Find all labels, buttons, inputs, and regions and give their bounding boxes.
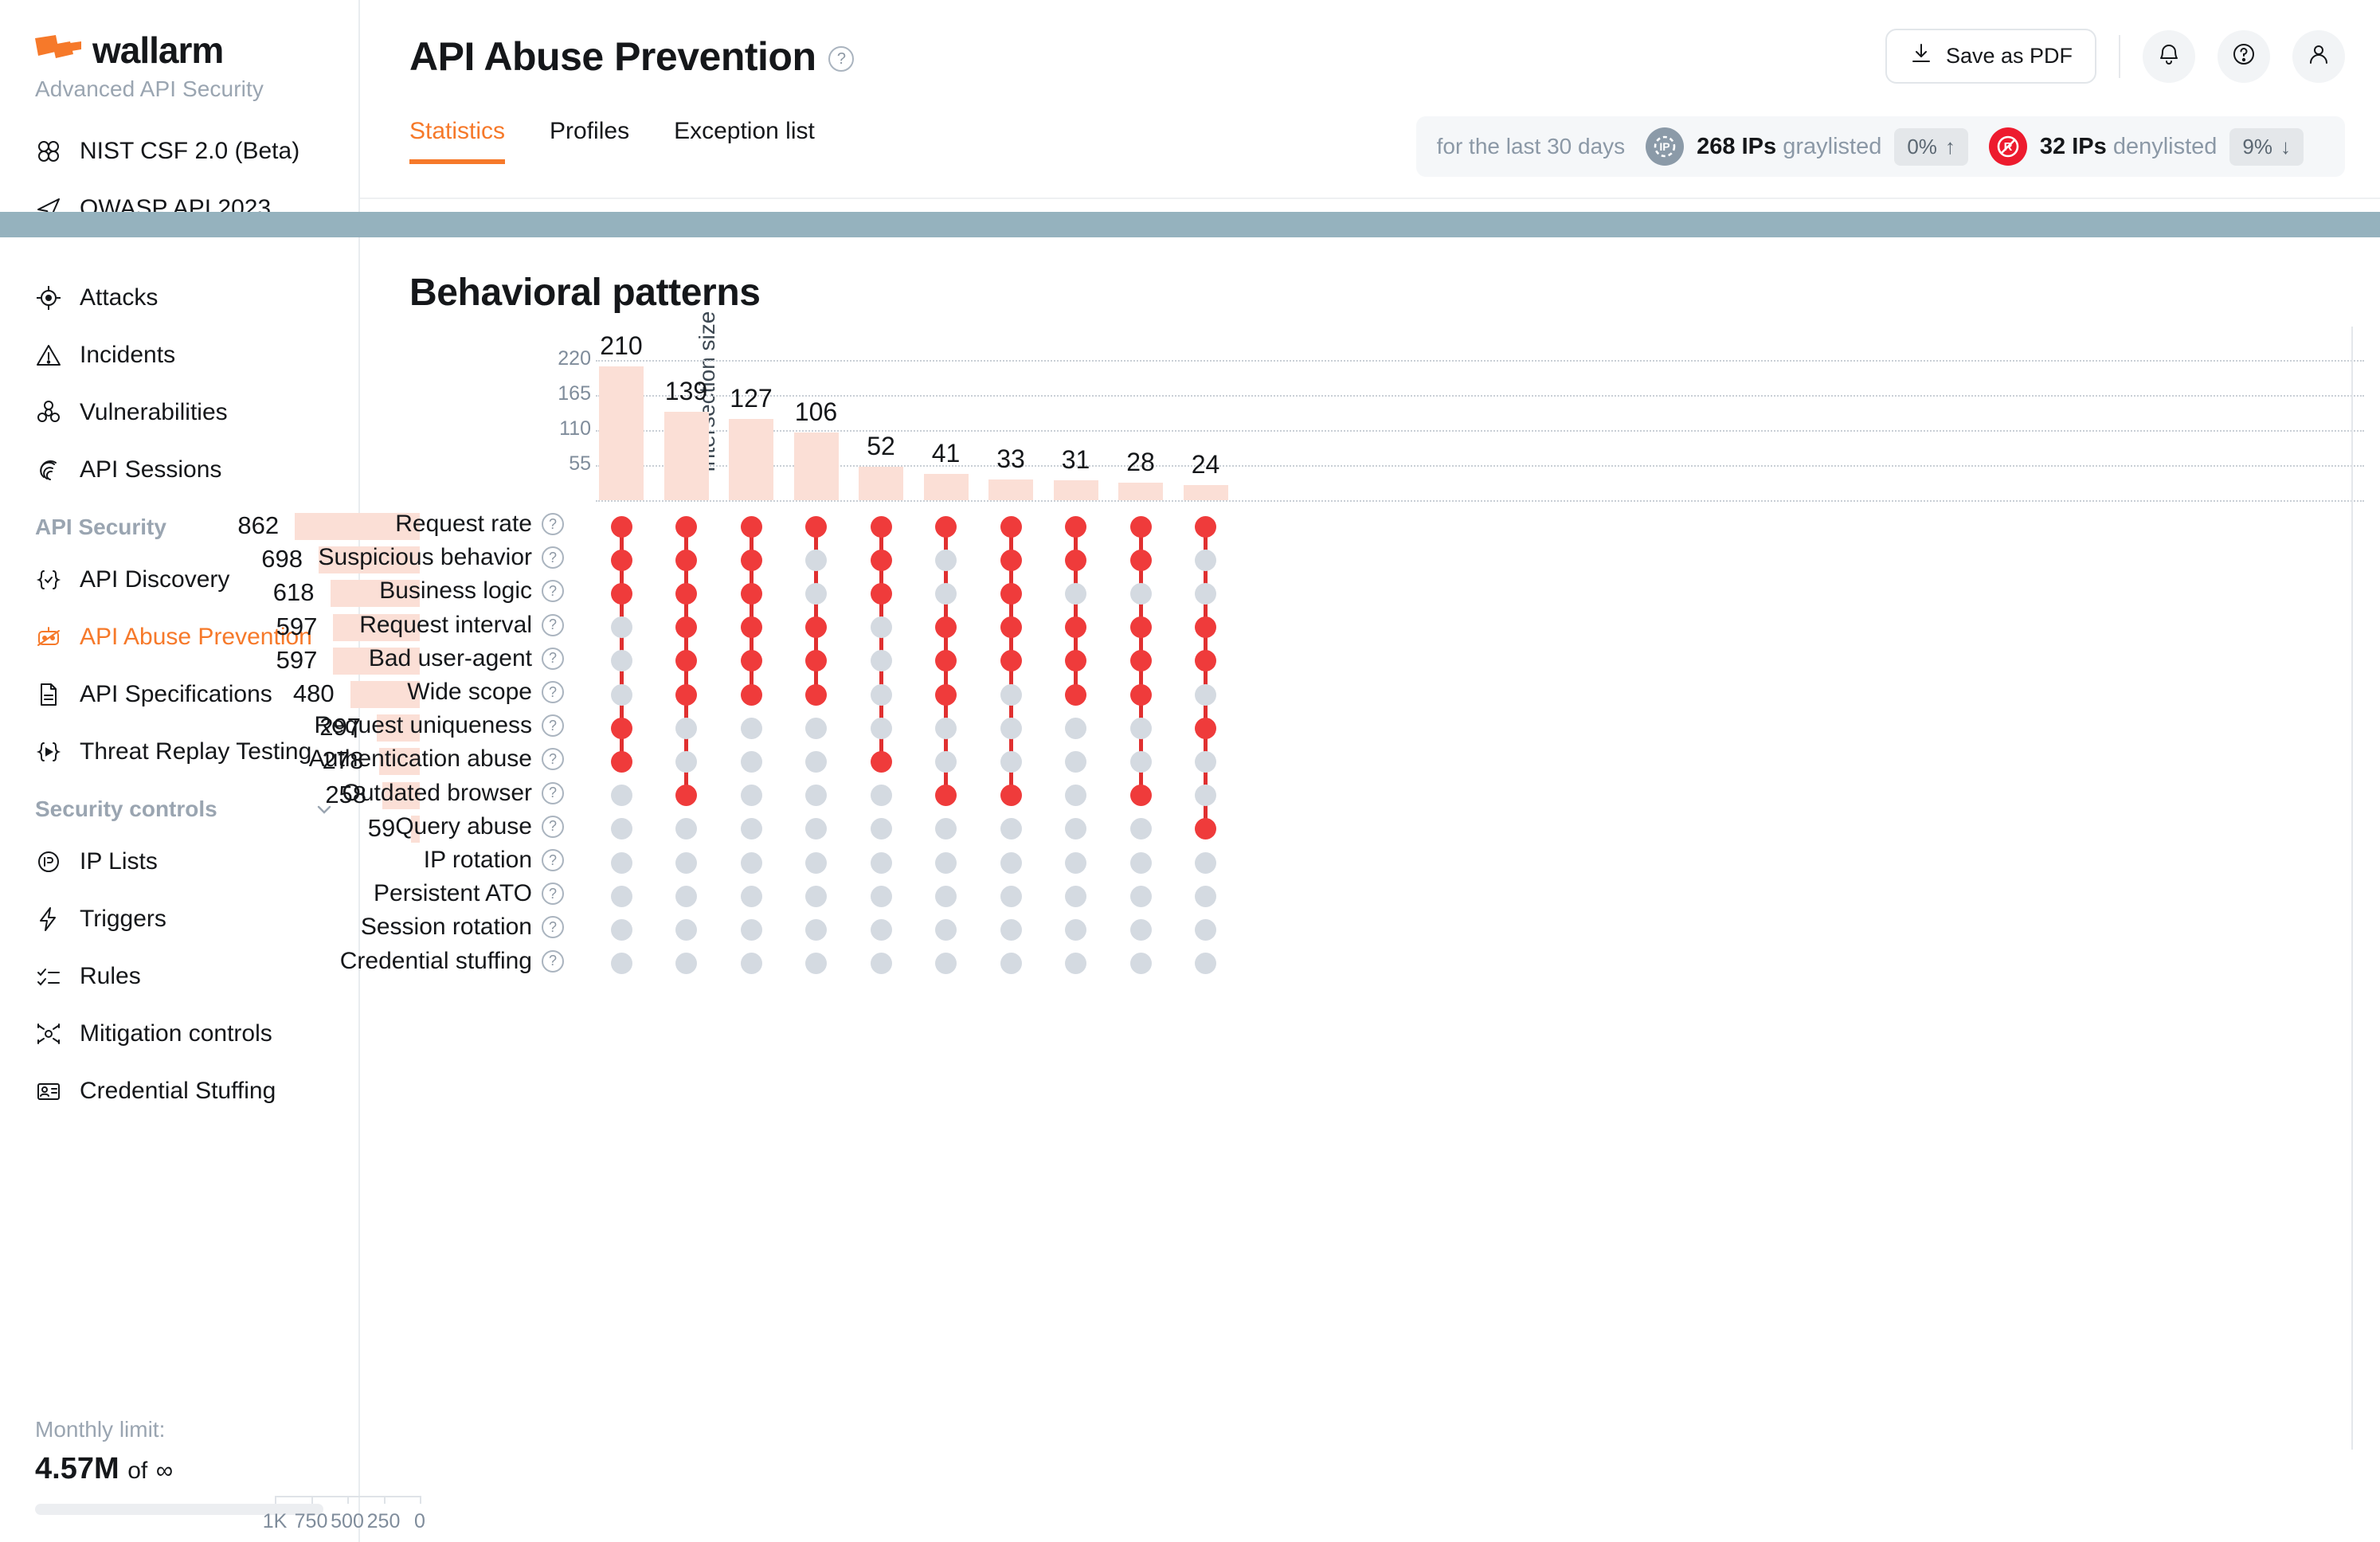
set-size-axis-tick-mark xyxy=(275,1496,276,1504)
membership-dot-off[interactable] xyxy=(1195,919,1216,941)
membership-dot-off[interactable] xyxy=(611,886,632,907)
membership-dot-on[interactable] xyxy=(1000,550,1022,571)
sidebar-item-label: IP Lists xyxy=(80,848,158,875)
membership-dot-off[interactable] xyxy=(741,751,762,773)
membership-dot-off[interactable] xyxy=(1195,886,1216,907)
set-row-help-icon[interactable]: ? xyxy=(542,681,564,703)
membership-dot-off[interactable] xyxy=(871,650,892,671)
set-size-value: 480 xyxy=(191,679,335,708)
intersection-bar[interactable] xyxy=(1118,483,1163,500)
membership-dot-off[interactable] xyxy=(1000,684,1022,706)
svg-text:IP: IP xyxy=(1660,140,1670,153)
membership-dot-on[interactable] xyxy=(1065,550,1086,571)
membership-dot-off[interactable] xyxy=(741,852,762,874)
membership-dot-on[interactable] xyxy=(1195,516,1216,538)
membership-dot-on[interactable] xyxy=(871,550,892,571)
top-bar: API Abuse Prevention ? Statistics Profil… xyxy=(360,0,2380,199)
set-size-value: 59 xyxy=(252,814,395,843)
braces-check-icon xyxy=(35,566,62,593)
checklist-icon xyxy=(35,963,62,990)
membership-dot-off[interactable] xyxy=(611,818,632,839)
set-row-label-text: Persistent ATO xyxy=(374,880,532,907)
membership-dot-off[interactable] xyxy=(741,818,762,839)
set-row-help-icon[interactable]: ? xyxy=(542,513,564,535)
stats-period-label: for the last 30 days xyxy=(1437,134,1626,159)
intersection-bar[interactable] xyxy=(859,467,903,500)
wallarm-logo-icon xyxy=(35,33,81,67)
app-root: wallarm Advanced API Security NIST CSF 2… xyxy=(0,0,2380,1542)
monthly-limit-value: 4.57M of ∞ xyxy=(35,1452,325,1486)
membership-dot-on[interactable] xyxy=(611,550,632,571)
membership-dot-off[interactable] xyxy=(1130,818,1152,839)
set-row-label-text: Wide scope xyxy=(407,679,532,706)
membership-dot-on[interactable] xyxy=(611,516,632,538)
gridline-baseline xyxy=(596,500,2364,502)
membership-dot-off[interactable] xyxy=(675,953,697,974)
biohazard-icon xyxy=(35,399,62,426)
membership-dot-off[interactable] xyxy=(1000,886,1022,907)
membership-dot-on[interactable] xyxy=(871,751,892,773)
page-title: API Abuse Prevention xyxy=(409,33,816,80)
membership-dot-on[interactable] xyxy=(1130,650,1152,671)
section-title: Security controls xyxy=(35,796,217,822)
set-size-axis-tick-mark xyxy=(384,1496,386,1504)
membership-dot-off[interactable] xyxy=(611,650,632,671)
set-size-axis-tick-mark xyxy=(311,1496,313,1504)
help-button[interactable] xyxy=(2218,30,2270,83)
membership-dot-off[interactable] xyxy=(675,818,697,839)
id-card-icon xyxy=(35,1078,62,1105)
membership-dot-on[interactable] xyxy=(871,516,892,538)
membership-dot-on[interactable] xyxy=(1130,550,1152,571)
save-as-pdf-label: Save as PDF xyxy=(1946,44,2073,68)
membership-dot-off[interactable] xyxy=(1195,583,1216,605)
membership-dot-off[interactable] xyxy=(805,583,827,605)
membership-dot-off[interactable] xyxy=(675,852,697,874)
membership-dot-off[interactable] xyxy=(805,919,827,941)
membership-dot-on[interactable] xyxy=(1000,616,1022,638)
membership-dot-on[interactable] xyxy=(741,616,762,638)
set-row-help-icon[interactable]: ? xyxy=(542,883,564,905)
intersection-bar[interactable] xyxy=(729,419,773,500)
set-row-label-text: Outdated browser xyxy=(343,780,532,807)
graylist-ip-icon: IP xyxy=(1646,127,1684,166)
membership-dot-on[interactable] xyxy=(1065,650,1086,671)
bot-blocked-icon xyxy=(35,624,62,651)
membership-dot-on[interactable] xyxy=(675,516,697,538)
set-row-label[interactable]: Outdated browser? xyxy=(436,780,564,807)
set-size-axis-tick-mark xyxy=(347,1496,349,1504)
intersection-bar[interactable] xyxy=(1054,480,1098,500)
membership-dot-on[interactable] xyxy=(1130,616,1152,638)
set-row-label-text: Query abuse xyxy=(395,813,532,840)
set-row-help-icon[interactable]: ? xyxy=(542,714,564,737)
membership-dot-on[interactable] xyxy=(805,650,827,671)
arrow-up-icon: ↑ xyxy=(1945,135,1955,159)
set-row-label[interactable]: Persistent ATO? xyxy=(436,880,564,907)
membership-dot-on[interactable] xyxy=(805,516,827,538)
membership-dot-off[interactable] xyxy=(741,718,762,739)
set-row-label-text: Suspicious behavior xyxy=(319,544,533,571)
set-row-label[interactable]: Request uniqueness? xyxy=(436,712,564,739)
membership-dot-off[interactable] xyxy=(805,953,827,974)
page-title-help-icon[interactable]: ? xyxy=(828,46,854,72)
document-icon xyxy=(35,681,62,708)
membership-dot-off[interactable] xyxy=(1130,886,1152,907)
brand-block: wallarm Advanced API Security xyxy=(0,0,358,102)
membership-dot-on[interactable] xyxy=(1065,516,1086,538)
membership-dot-off[interactable] xyxy=(1065,785,1086,806)
sidebar-nav-security-controls: IP Lists Triggers Rules xyxy=(0,833,358,1120)
set-size-axis-tick-mark xyxy=(420,1496,421,1504)
membership-dot-on[interactable] xyxy=(871,583,892,605)
membership-dot-off[interactable] xyxy=(935,886,957,907)
membership-dot-off[interactable] xyxy=(611,684,632,706)
membership-dot-off[interactable] xyxy=(1065,886,1086,907)
save-as-pdf-button[interactable]: Save as PDF xyxy=(1885,29,2096,84)
set-row-label[interactable]: Wide scope? xyxy=(436,679,564,706)
sidebar-item-vulnerabilities[interactable]: Vulnerabilities xyxy=(0,384,358,441)
warning-triangle-icon xyxy=(35,342,62,369)
set-row-label-text: Bad user-agent xyxy=(369,645,532,672)
membership-dot-off[interactable] xyxy=(805,751,827,773)
membership-dot-on[interactable] xyxy=(611,718,632,739)
membership-dot-on[interactable] xyxy=(1000,516,1022,538)
intersection-bar-value: 24 xyxy=(1158,450,1254,479)
membership-dot-off[interactable] xyxy=(611,616,632,638)
membership-dot-on[interactable] xyxy=(935,650,957,671)
set-row-label[interactable]: IP rotation? xyxy=(436,847,564,874)
membership-dot-off[interactable] xyxy=(935,718,957,739)
membership-dot-on[interactable] xyxy=(1000,583,1022,605)
sidebar-item-credential-stuffing[interactable]: Credential Stuffing xyxy=(0,1063,358,1120)
membership-dot-off[interactable] xyxy=(1130,751,1152,773)
membership-dot-off[interactable] xyxy=(1065,751,1086,773)
denylisted-delta-badge: 9% ↓ xyxy=(2229,128,2304,166)
membership-dot-on[interactable] xyxy=(1000,785,1022,806)
membership-dot-off[interactable] xyxy=(805,550,827,571)
membership-dot-off[interactable] xyxy=(1000,953,1022,974)
denylisted-count: 32 IPs xyxy=(2040,134,2107,159)
set-row-help-icon[interactable]: ? xyxy=(542,816,564,838)
graylisted-delta: 0% xyxy=(1907,135,1937,159)
membership-dot-off[interactable] xyxy=(935,751,957,773)
membership-dot-on[interactable] xyxy=(1130,684,1152,706)
set-size-axis-tick: 0 xyxy=(388,1510,452,1533)
membership-dot-on[interactable] xyxy=(1130,516,1152,538)
upset-plot: Intersection size22016511055210139127106… xyxy=(360,199,2380,1542)
membership-dot-off[interactable] xyxy=(1000,818,1022,839)
tab-exception-list[interactable]: Exception list xyxy=(652,118,837,164)
membership-dot-off[interactable] xyxy=(935,818,957,839)
sidebar-item-label: Incidents xyxy=(80,342,175,369)
brand-name: wallarm xyxy=(92,29,223,72)
sidebar-item-label: NIST CSF 2.0 (Beta) xyxy=(80,138,299,165)
set-row-help-icon[interactable]: ? xyxy=(542,849,564,871)
sidebar-nav-main: Attacks Incidents Vulnerabilities xyxy=(0,269,358,499)
membership-dot-off[interactable] xyxy=(1065,818,1086,839)
membership-dot-on[interactable] xyxy=(675,684,697,706)
membership-dot-off[interactable] xyxy=(935,583,957,605)
set-row-label[interactable]: Business logic? xyxy=(436,577,564,605)
membership-dot-on[interactable] xyxy=(1065,684,1086,706)
set-size-value: 597 xyxy=(174,612,317,641)
membership-dot-on[interactable] xyxy=(675,550,697,571)
sidebar-item-triggers[interactable]: Triggers xyxy=(0,890,358,948)
membership-dot-off[interactable] xyxy=(871,684,892,706)
membership-dot-off[interactable] xyxy=(1195,550,1216,571)
membership-dot-off[interactable] xyxy=(1195,852,1216,874)
brand-tagline: Advanced API Security xyxy=(35,76,358,102)
sidebar-item-api-sessions[interactable]: API Sessions xyxy=(0,441,358,499)
membership-dot-off[interactable] xyxy=(1130,718,1152,739)
braces-play-icon xyxy=(35,738,62,765)
membership-dot-off[interactable] xyxy=(871,616,892,638)
set-row-label-text: IP rotation xyxy=(424,847,532,874)
membership-dot-on[interactable] xyxy=(1065,616,1086,638)
set-row-help-icon[interactable]: ? xyxy=(542,648,564,670)
sidebar-item-incidents[interactable]: Incidents xyxy=(0,327,358,384)
membership-dot-on[interactable] xyxy=(805,684,827,706)
monthly-limit-label: Monthly limit: xyxy=(35,1417,325,1442)
membership-dot-on[interactable] xyxy=(675,650,697,671)
membership-dot-off[interactable] xyxy=(675,886,697,907)
sidebar-item-label: Mitigation controls xyxy=(80,1020,272,1047)
membership-dot-off[interactable] xyxy=(871,886,892,907)
set-row-help-icon[interactable]: ? xyxy=(542,748,564,770)
set-row-label-text: Request uniqueness xyxy=(314,712,532,739)
sidebar-item-label: Attacks xyxy=(80,284,158,311)
chart-content: Behavioral patterns Intersection size220… xyxy=(360,199,2380,1542)
membership-dot-off[interactable] xyxy=(871,852,892,874)
membership-dot-off[interactable] xyxy=(1195,684,1216,706)
set-row-label[interactable]: Credential stuffing? xyxy=(436,948,564,975)
top-actions: Save as PDF xyxy=(1885,29,2345,84)
gridline xyxy=(596,360,2364,362)
y-axis-tick: 55 xyxy=(535,452,591,476)
sidebar-item-label: Vulnerabilities xyxy=(80,399,228,426)
set-row-label[interactable]: Bad user-agent? xyxy=(436,645,564,672)
membership-dot-off[interactable] xyxy=(1000,919,1022,941)
denylist-icon: R xyxy=(1989,127,2027,166)
membership-dot-off[interactable] xyxy=(805,718,827,739)
membership-dot-off[interactable] xyxy=(1000,751,1022,773)
set-size-value: 618 xyxy=(171,578,315,607)
sidebar-item-label: API Sessions xyxy=(80,456,221,483)
membership-dot-off[interactable] xyxy=(1065,718,1086,739)
membership-dot-off[interactable] xyxy=(741,953,762,974)
user-menu-button[interactable] xyxy=(2292,30,2345,83)
monthly-limit-of: of xyxy=(127,1458,147,1484)
gridline xyxy=(596,395,2364,397)
denylisted-delta: 9% xyxy=(2242,135,2272,159)
set-row-help-icon[interactable]: ? xyxy=(542,916,564,938)
help-circle-icon xyxy=(2230,41,2257,72)
membership-dot-off[interactable] xyxy=(675,718,697,739)
membership-dot-off[interactable] xyxy=(935,852,957,874)
intersection-bar-value: 106 xyxy=(769,397,864,427)
user-avatar-icon xyxy=(2305,41,2332,72)
intersection-bar[interactable] xyxy=(924,474,969,500)
notifications-button[interactable] xyxy=(2143,30,2195,83)
set-row-label-text: Request interval xyxy=(359,612,532,639)
sidebar-item-label: Rules xyxy=(80,963,141,990)
download-icon xyxy=(1909,41,1933,71)
membership-dot-off[interactable] xyxy=(871,718,892,739)
membership-dot-off[interactable] xyxy=(1130,953,1152,974)
membership-dot-on[interactable] xyxy=(675,785,697,806)
membership-dot-off[interactable] xyxy=(611,953,632,974)
sidebar-item-nist-csf[interactable]: NIST CSF 2.0 (Beta) xyxy=(0,123,358,180)
membership-dot-on[interactable] xyxy=(935,616,957,638)
membership-dot-off[interactable] xyxy=(1065,919,1086,941)
monthly-limit-used: 4.57M xyxy=(35,1452,119,1485)
membership-dot-on[interactable] xyxy=(611,751,632,773)
membership-dot-off[interactable] xyxy=(1195,751,1216,773)
toolbar-divider xyxy=(2119,35,2120,78)
set-row-label[interactable]: Session rotation? xyxy=(436,914,564,941)
tab-statistics[interactable]: Statistics xyxy=(409,118,527,164)
set-row-label[interactable]: Query abuse? xyxy=(436,813,564,840)
set-size-value: 597 xyxy=(174,646,317,675)
nist-framework-icon xyxy=(35,138,62,165)
ip-circle-icon xyxy=(35,848,62,875)
membership-dot-off[interactable] xyxy=(871,919,892,941)
membership-dot-off[interactable] xyxy=(805,886,827,907)
membership-dot-off[interactable] xyxy=(1130,583,1152,605)
membership-dot-off[interactable] xyxy=(1130,852,1152,874)
tab-profiles[interactable]: Profiles xyxy=(527,118,652,164)
membership-dot-on[interactable] xyxy=(741,516,762,538)
membership-dot-on[interactable] xyxy=(935,684,957,706)
membership-dot-on[interactable] xyxy=(935,516,957,538)
graylisted-count: 268 IPs xyxy=(1697,134,1776,159)
set-row-help-icon[interactable]: ? xyxy=(542,614,564,636)
stat-graylisted: IP 268 IPs graylisted 0% ↑ xyxy=(1646,127,1968,166)
membership-dot-on[interactable] xyxy=(1195,718,1216,739)
set-row-help-icon[interactable]: ? xyxy=(542,580,564,602)
arrow-down-icon: ↓ xyxy=(2280,135,2291,159)
membership-dot-on[interactable] xyxy=(675,616,697,638)
membership-dot-off[interactable] xyxy=(611,852,632,874)
membership-dot-off[interactable] xyxy=(935,953,957,974)
membership-dot-on[interactable] xyxy=(1195,650,1216,671)
membership-dot-on[interactable] xyxy=(935,785,957,806)
membership-dot-on[interactable] xyxy=(805,616,827,638)
set-row-label[interactable]: Authentication abuse? xyxy=(436,746,564,773)
membership-dot-on[interactable] xyxy=(1195,818,1216,839)
intersection-bar[interactable] xyxy=(794,432,839,500)
membership-dot-off[interactable] xyxy=(741,919,762,941)
sidebar-item-label: Triggers xyxy=(80,906,166,933)
mitigation-icon xyxy=(35,1020,62,1047)
membership-dot-off[interactable] xyxy=(871,818,892,839)
membership-dot-off[interactable] xyxy=(1065,953,1086,974)
membership-dot-off[interactable] xyxy=(741,886,762,907)
membership-dot-off[interactable] xyxy=(871,953,892,974)
membership-dot-off[interactable] xyxy=(1000,852,1022,874)
monthly-limit-max: ∞ xyxy=(156,1458,173,1484)
membership-dot-on[interactable] xyxy=(611,583,632,605)
membership-dot-off[interactable] xyxy=(1195,953,1216,974)
membership-dot-off[interactable] xyxy=(1130,919,1152,941)
membership-dot-on[interactable] xyxy=(741,583,762,605)
membership-dot-off[interactable] xyxy=(805,852,827,874)
bell-icon xyxy=(2155,41,2182,72)
membership-dot-off[interactable] xyxy=(611,785,632,806)
set-size-value: 698 xyxy=(159,545,303,573)
set-size-value: 862 xyxy=(135,511,279,540)
membership-dot-on[interactable] xyxy=(675,583,697,605)
membership-dot-off[interactable] xyxy=(871,785,892,806)
set-row-label-text: Authentication abuse xyxy=(309,746,532,773)
membership-dot-off[interactable] xyxy=(1195,785,1216,806)
sidebar-item-label: Credential Stuffing xyxy=(80,1078,276,1105)
membership-dot-on[interactable] xyxy=(1195,616,1216,638)
set-row-label-text: Business logic xyxy=(379,577,532,605)
stats-summary-bar: for the last 30 days IP 268 IPs graylist… xyxy=(1416,116,2345,177)
y-axis-tick: 110 xyxy=(535,417,591,440)
scroll-indicator-band[interactable] xyxy=(0,212,2380,237)
target-icon xyxy=(35,284,62,311)
set-row-label[interactable]: Suspicious behavior? xyxy=(436,544,564,571)
membership-dot-off[interactable] xyxy=(805,785,827,806)
intersection-bar[interactable] xyxy=(1184,485,1228,500)
set-row-help-icon[interactable]: ? xyxy=(542,950,564,973)
lightning-icon xyxy=(35,906,62,933)
stat-denylisted: R 32 IPs denylisted 9% ↓ xyxy=(1989,127,2304,166)
set-row-label[interactable]: Request rate? xyxy=(436,511,564,538)
membership-dot-off[interactable] xyxy=(935,919,957,941)
membership-dot-off[interactable] xyxy=(1065,583,1086,605)
membership-dot-on[interactable] xyxy=(741,550,762,571)
fingerprint-icon xyxy=(35,456,62,483)
membership-dot-off[interactable] xyxy=(805,818,827,839)
membership-dot-on[interactable] xyxy=(741,650,762,671)
graylisted-label: graylisted xyxy=(1783,134,1881,159)
intersection-bar[interactable] xyxy=(599,366,644,500)
intersection-bar-value: 210 xyxy=(573,331,669,361)
y-axis-tick: 165 xyxy=(535,382,591,405)
set-row-label-text: Request rate xyxy=(395,511,532,538)
intersection-bar[interactable] xyxy=(664,412,709,500)
graylisted-delta-badge: 0% ↑ xyxy=(1894,128,1968,166)
membership-dot-off[interactable] xyxy=(1065,852,1086,874)
membership-dot-off[interactable] xyxy=(675,751,697,773)
membership-dot-off[interactable] xyxy=(611,919,632,941)
membership-dot-off[interactable] xyxy=(1000,718,1022,739)
set-row-label-text: Credential stuffing xyxy=(340,948,532,975)
denylisted-label: denylisted xyxy=(2113,134,2218,159)
membership-dot-on[interactable] xyxy=(741,684,762,706)
membership-dot-off[interactable] xyxy=(935,550,957,571)
set-row-help-icon[interactable]: ? xyxy=(542,546,564,569)
sidebar-item-rules[interactable]: Rules xyxy=(0,948,358,1005)
set-row-label[interactable]: Request interval? xyxy=(436,612,564,639)
sidebar-item-attacks[interactable]: Attacks xyxy=(0,269,358,327)
membership-dot-on[interactable] xyxy=(1130,785,1152,806)
intersection-bar[interactable] xyxy=(988,479,1033,500)
membership-dot-on[interactable] xyxy=(1000,650,1022,671)
plot-right-rule xyxy=(2351,327,2353,1450)
membership-dot-off[interactable] xyxy=(741,785,762,806)
membership-dot-off[interactable] xyxy=(675,919,697,941)
sidebar-item-mitigation-controls[interactable]: Mitigation controls xyxy=(0,1005,358,1063)
set-row-label-text: Session rotation xyxy=(361,914,532,941)
set-row-help-icon[interactable]: ? xyxy=(542,782,564,804)
membership-connector xyxy=(1204,526,1208,829)
